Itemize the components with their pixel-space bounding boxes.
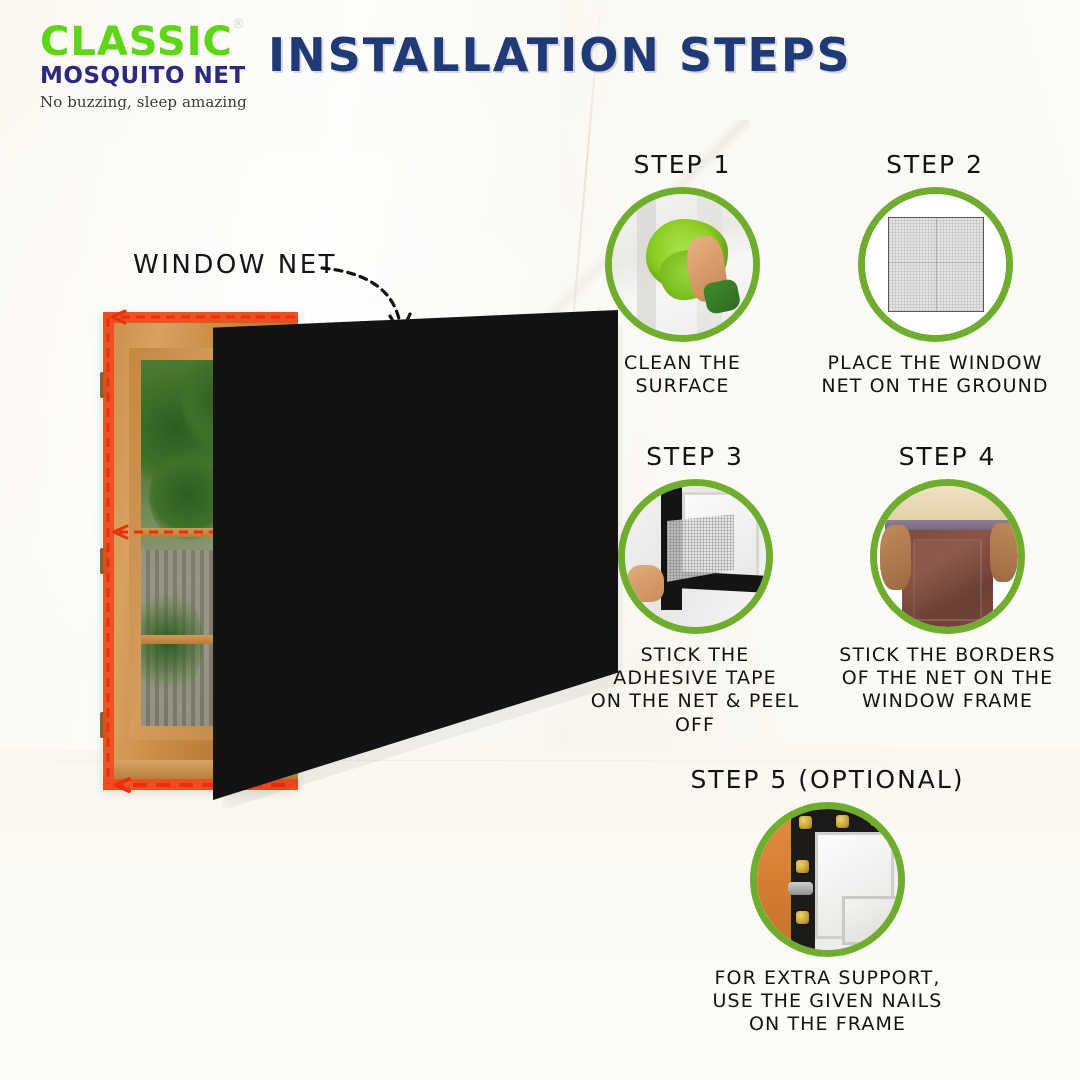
folded-net-photo [865, 194, 1006, 335]
step-4-image [870, 479, 1025, 634]
brand-name: CLASSIC ® [40, 22, 233, 62]
step-1-image [605, 187, 760, 342]
green-glove-cuff [702, 278, 742, 315]
photo-wooden-lintel [877, 486, 1018, 523]
step-4-title: STEP 4 [815, 442, 1080, 471]
photo-orange-door-edge [757, 820, 794, 938]
step-1-caption: CLEAN THE SURFACE [575, 352, 790, 398]
step-2: STEP 2 PLACE THE WINDOW NET ON THE GROUN… [790, 150, 1080, 398]
stick-borders-photo [877, 486, 1018, 627]
photo-wooden-door [902, 530, 992, 627]
step-2-title: STEP 2 [790, 150, 1080, 179]
page-title: INSTALLATION STEPS [268, 28, 852, 82]
hand-icon-left [880, 525, 911, 590]
step-5: STEP 5 (OPTIONAL) FOR EXTRA SUPPORT, USE [635, 765, 1020, 1037]
door-panel-detail [913, 539, 982, 621]
step-2-image [858, 187, 1013, 342]
net-fold-line-vertical [936, 218, 937, 311]
photo-window-pane-lower [842, 896, 899, 944]
step-3-title: STEP 3 [575, 442, 815, 471]
step-4-caption: STICK THE BORDERS OF THE NET ON THE WIND… [815, 644, 1080, 714]
step-5-image [750, 802, 905, 957]
window-latch-icon [788, 882, 813, 895]
nails-on-frame-photo [757, 809, 898, 950]
step-3-caption: STICK THE ADHESIVE TAPE ON THE NET & PEE… [575, 644, 815, 737]
nail-icon [796, 911, 809, 924]
hand-icon [627, 565, 664, 602]
window-net-label: WINDOW NET [133, 250, 337, 280]
step-1-title: STEP 1 [575, 150, 790, 179]
brand-name-text: CLASSIC [40, 19, 233, 65]
step-3-image [618, 479, 773, 634]
step-2-caption: PLACE THE WINDOW NET ON THE GROUND [790, 352, 1080, 398]
nail-icon [836, 815, 849, 828]
net-fold-line-horizontal [889, 262, 982, 263]
brand-subtitle: MOSQUITO NET [40, 63, 280, 89]
registered-trademark-icon: ® [232, 18, 246, 31]
window-net-illustration [95, 300, 535, 810]
nail-icon [796, 860, 809, 873]
step-4: STEP 4 STICK THE BORDERS OF THE NET ON T… [815, 442, 1080, 714]
peel-tape-photo [625, 486, 766, 627]
clean-surface-photo [612, 194, 753, 335]
brand-logo: CLASSIC ® MOSQUITO NET No buzzing, sleep… [40, 22, 280, 111]
hand-icon-right [990, 523, 1018, 582]
nail-icon [870, 813, 883, 826]
step-1: STEP 1 CLEAN THE SURFACE [575, 150, 790, 398]
step-3: STEP 3 STICK THE ADHESIVE TAPE ON THE NE… [575, 442, 815, 737]
brand-tagline: No buzzing, sleep amazing [40, 93, 280, 111]
step-5-caption: FOR EXTRA SUPPORT, USE THE GIVEN NAILS O… [635, 967, 1020, 1037]
nail-icon [799, 816, 812, 829]
step-5-title: STEP 5 (OPTIONAL) [635, 765, 1020, 794]
installation-steps-infographic: CLASSIC ® MOSQUITO NET No buzzing, sleep… [0, 0, 1080, 1080]
folded-net-square-icon [888, 217, 983, 312]
